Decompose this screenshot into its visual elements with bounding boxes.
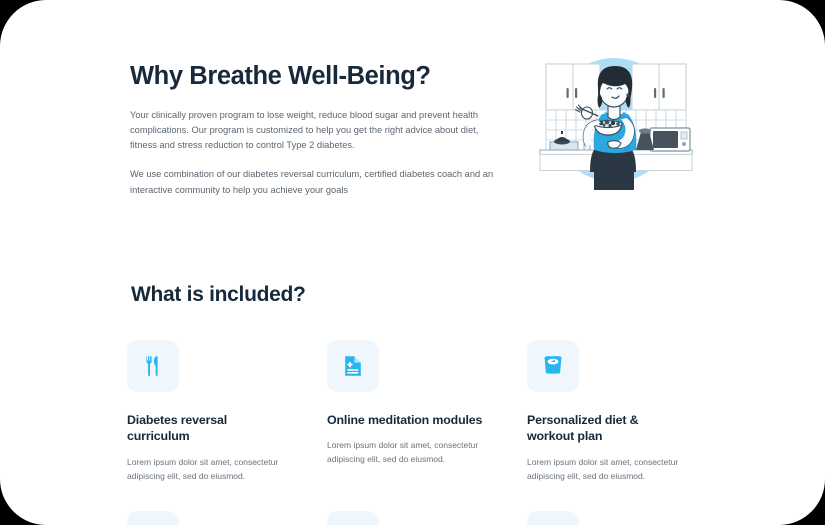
feature-card-title: Online meditation modules bbox=[327, 412, 487, 428]
feature-card[interactable] bbox=[327, 511, 503, 525]
why-section-paragraph-1: Your clinically proven program to lose w… bbox=[130, 108, 494, 153]
why-section-paragraph-2: We use combination of our diabetes rever… bbox=[130, 167, 494, 197]
feature-card-title: Personalized diet & workout plan bbox=[527, 412, 687, 445]
included-section-heading: What is included? bbox=[131, 283, 306, 307]
feature-card-description: Lorem ipsum dolor sit amet, consectetur … bbox=[327, 439, 485, 467]
feature-card[interactable] bbox=[127, 511, 303, 525]
page-container: Why Breathe Well-Being? Your clinically … bbox=[0, 0, 825, 525]
why-text-column: Why Breathe Well-Being? Your clinically … bbox=[130, 62, 500, 198]
feature-card-icon-tile bbox=[527, 340, 579, 392]
what-is-included-section: What is included? Diabetes reversal curr… bbox=[0, 250, 825, 525]
feature-card[interactable]: Personalized diet & workout plan Lorem i… bbox=[527, 340, 703, 483]
feature-card-icon-tile bbox=[127, 340, 179, 392]
feature-card-title: Diabetes reversal curriculum bbox=[127, 412, 287, 445]
feature-card-icon-tile bbox=[327, 340, 379, 392]
feature-card-description: Lorem ipsum dolor sit amet, consectetur … bbox=[527, 456, 685, 484]
feature-card[interactable] bbox=[527, 511, 703, 525]
why-section-heading: Why Breathe Well-Being? bbox=[130, 62, 500, 91]
feature-card-description: Lorem ipsum dolor sit amet, consectetur … bbox=[127, 456, 285, 484]
medical-document-icon bbox=[341, 354, 365, 378]
weight-scale-icon bbox=[541, 354, 565, 378]
feature-card-icon-tile bbox=[127, 511, 179, 525]
fork-knife-icon bbox=[141, 354, 165, 378]
feature-card-icon-tile bbox=[327, 511, 379, 525]
feature-card-icon-tile bbox=[527, 511, 579, 525]
why-breathe-wellbeing-section: Why Breathe Well-Being? Your clinically … bbox=[0, 0, 825, 250]
feature-card[interactable]: Diabetes reversal curriculum Lorem ipsum… bbox=[127, 340, 303, 483]
woman-eating-healthy-meal-in-kitchen-illustration bbox=[532, 54, 700, 190]
feature-cards-grid: Diabetes reversal curriculum Lorem ipsum… bbox=[127, 340, 727, 483]
feature-card[interactable]: Online meditation modules Lorem ipsum do… bbox=[327, 340, 503, 483]
feature-cards-grid-row-2 bbox=[127, 511, 727, 525]
